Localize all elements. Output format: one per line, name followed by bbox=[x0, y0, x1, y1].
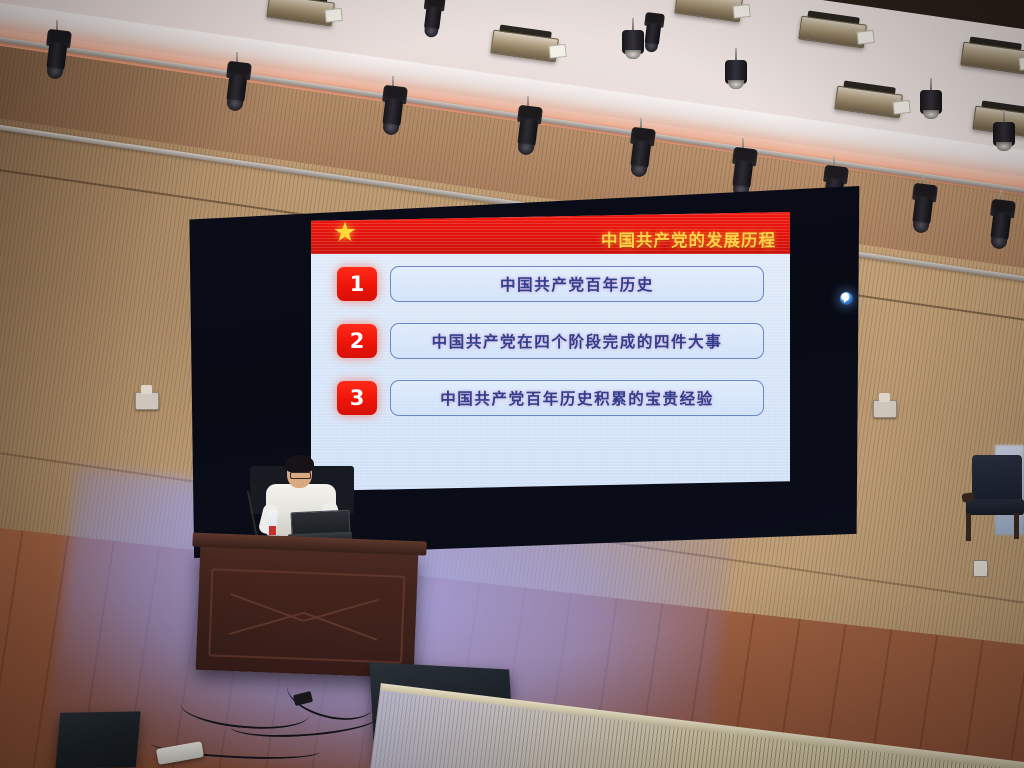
stage-monitor-left bbox=[55, 711, 140, 768]
wall-outlet bbox=[973, 560, 988, 577]
wall-light-fixture bbox=[135, 392, 159, 410]
wall-light-fixture bbox=[873, 400, 897, 418]
item-box[interactable]: 中国共产党百年历史 bbox=[390, 266, 764, 302]
auditorium-scene: ★ 中国共产党的发展历程 1 中国共产党百年历史 2 中国共产党在四个阶段完成的… bbox=[0, 0, 1024, 768]
item-number-badge: 2 bbox=[337, 324, 377, 358]
pendant-light bbox=[725, 60, 747, 90]
item-label: 中国共产党在四个阶段完成的四件大事 bbox=[432, 330, 723, 352]
item-number-badge: 3 bbox=[337, 381, 377, 415]
presentation-slide: ★ 中国共产党的发展历程 1 中国共产党百年历史 2 中国共产党在四个阶段完成的… bbox=[311, 212, 790, 491]
list-item[interactable]: 3 中国共产党百年历史积累的宝贵经验 bbox=[337, 380, 764, 416]
item-box[interactable]: 中国共产党在四个阶段完成的四件大事 bbox=[390, 323, 764, 359]
presenter-hair bbox=[285, 455, 314, 473]
slide-item-list: 1 中国共产党百年历史 2 中国共产党在四个阶段完成的四件大事 3 中国共产党百… bbox=[311, 266, 790, 437]
pendant-light bbox=[920, 90, 942, 120]
power-indicator-icon bbox=[840, 292, 853, 305]
item-number-badge: 1 bbox=[337, 267, 377, 301]
pendant-light bbox=[993, 122, 1015, 152]
presenter-head bbox=[287, 458, 312, 488]
wooden-lectern bbox=[196, 544, 419, 678]
list-item[interactable]: 2 中国共产党在四个阶段完成的四件大事 bbox=[337, 323, 764, 359]
lectern-panel bbox=[208, 568, 405, 663]
list-item[interactable]: 1 中国共产党百年历史 bbox=[337, 266, 764, 302]
microphone bbox=[252, 484, 258, 493]
item-label: 中国共产党百年历史积累的宝贵经验 bbox=[440, 387, 714, 409]
slide-title: 中国共产党的发展历程 bbox=[601, 227, 776, 251]
item-box[interactable]: 中国共产党百年历史积累的宝贵经验 bbox=[390, 380, 764, 416]
item-label: 中国共产党百年历史 bbox=[500, 273, 654, 295]
armchair[interactable] bbox=[960, 455, 1024, 545]
glasses-icon bbox=[290, 472, 311, 479]
gold-star-icon: ★ bbox=[331, 218, 359, 246]
